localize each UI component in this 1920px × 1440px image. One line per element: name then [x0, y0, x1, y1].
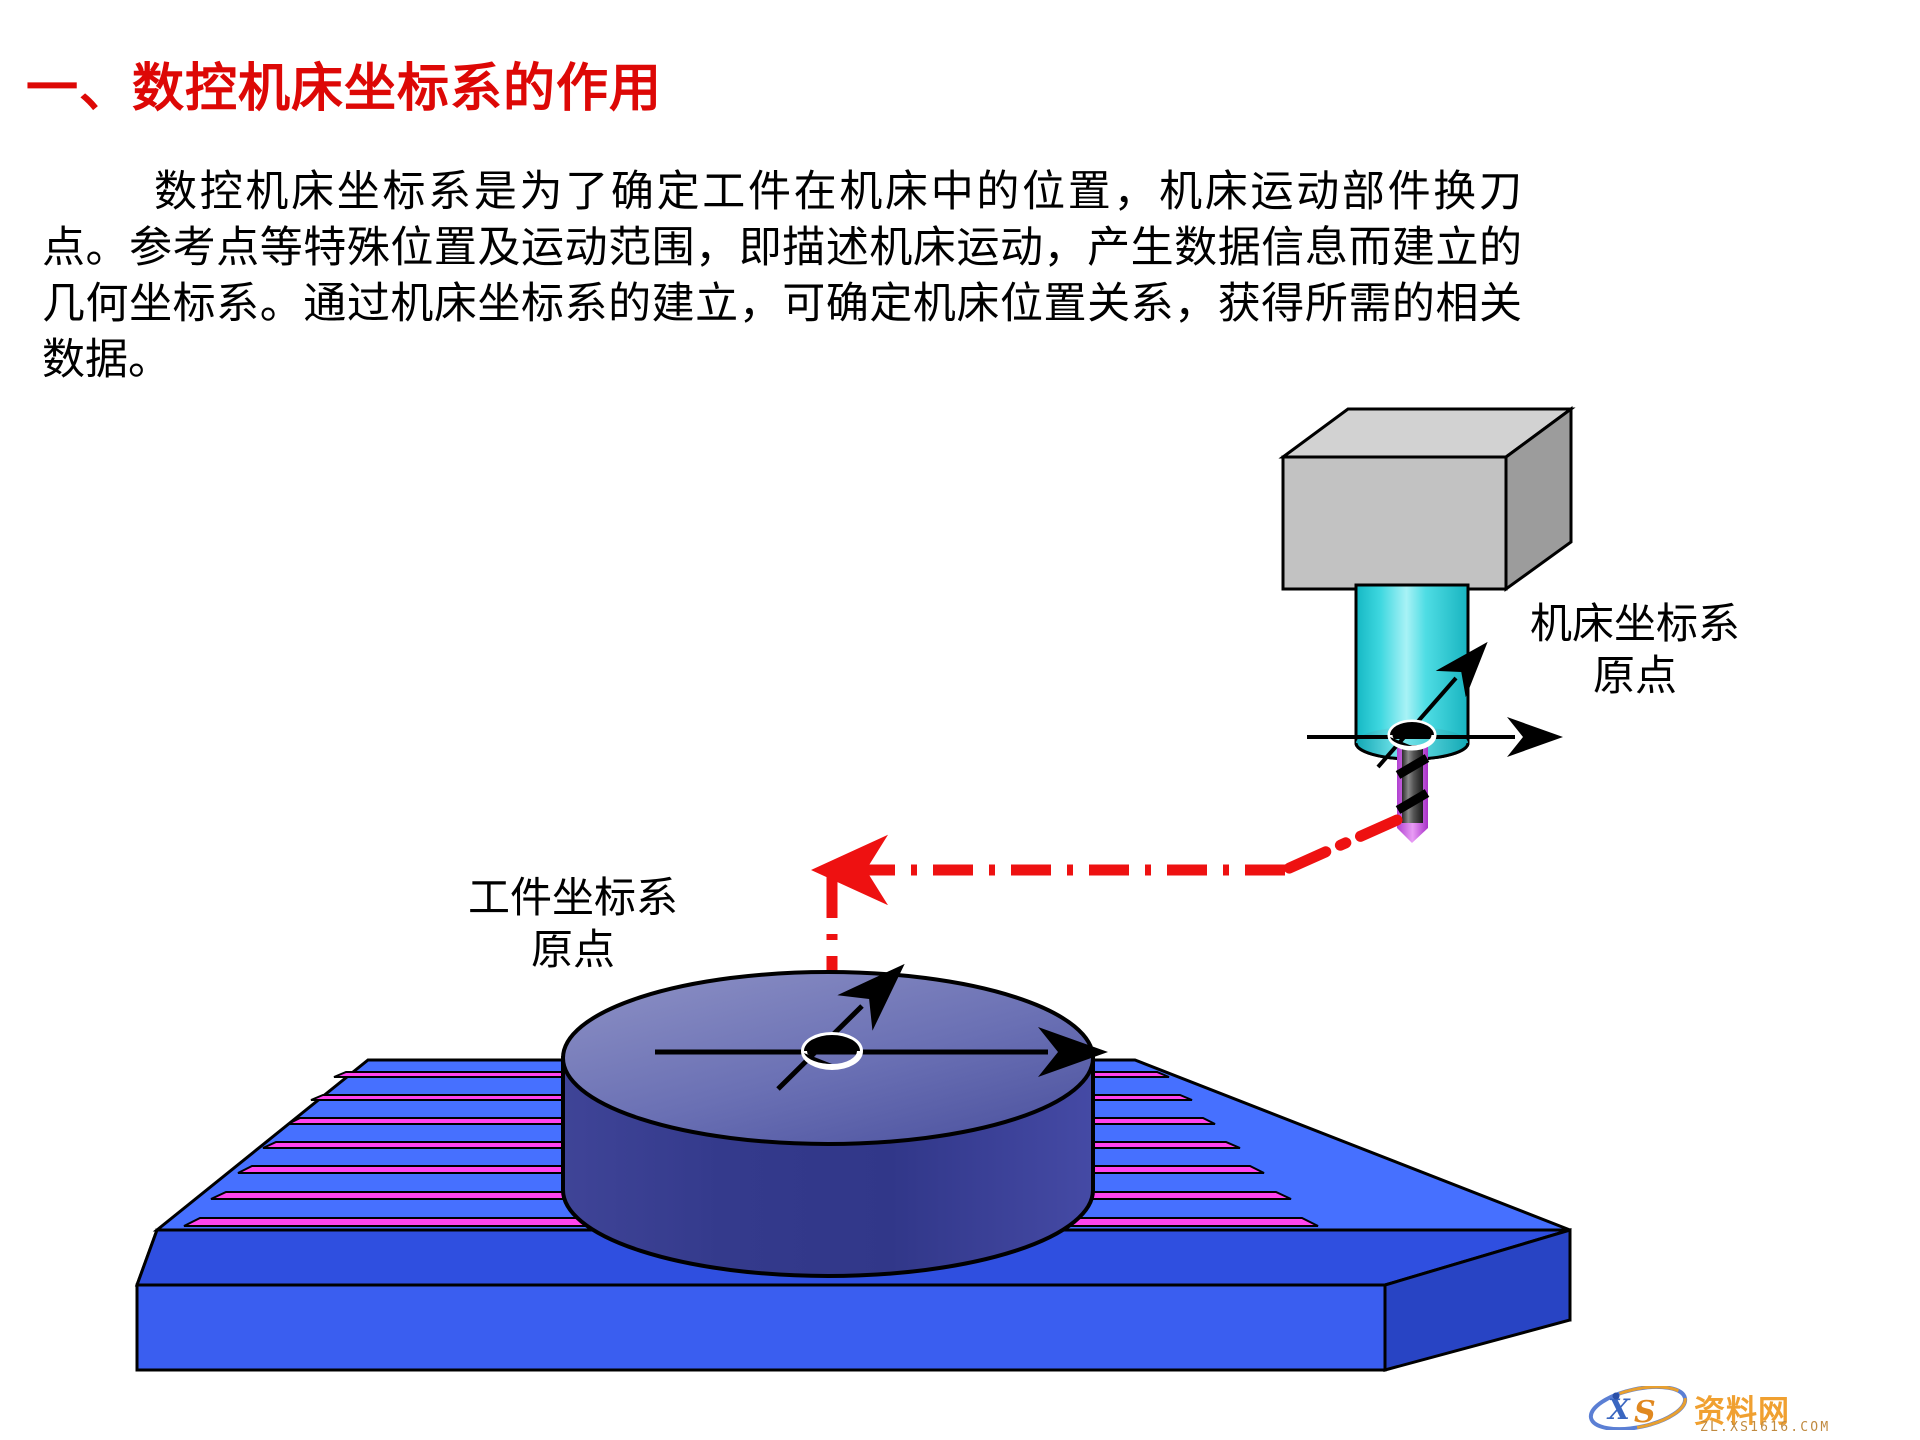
tool-path-arrow: [832, 820, 1397, 1035]
workpiece-cylinder: [563, 972, 1093, 1276]
spindle-cylinder: [1356, 585, 1468, 759]
table-t-slots: [184, 1072, 1318, 1226]
watermark-url: ZL.XS1616.COM: [1700, 1420, 1830, 1435]
label-workpiece-coordinate-origin: 工件坐标系 原点: [468, 872, 678, 976]
workpiece-coordinate-axes: [655, 1006, 1048, 1089]
label-machine-coordinate-origin: 机床坐标系 原点: [1530, 598, 1740, 702]
label-machine-origin-line2: 原点: [1530, 650, 1740, 702]
label-work-origin-line1: 工件坐标系: [468, 872, 678, 924]
machine-coordinate-axes: [1307, 678, 1515, 767]
tool-bit: [1397, 745, 1428, 843]
body-paragraph: 数控机床坐标系是为了确定工件在机床中的位置，机床运动部件换刀点。参考点等特殊位置…: [42, 164, 1522, 388]
spindle-head: [1283, 409, 1571, 589]
label-machine-origin-line1: 机床坐标系: [1530, 598, 1740, 650]
label-work-origin-line2: 原点: [468, 924, 678, 976]
page-title: 一、数控机床坐标系的作用: [26, 62, 662, 117]
machine-table: [137, 1060, 1570, 1370]
svg-text:S: S: [1634, 1395, 1656, 1430]
